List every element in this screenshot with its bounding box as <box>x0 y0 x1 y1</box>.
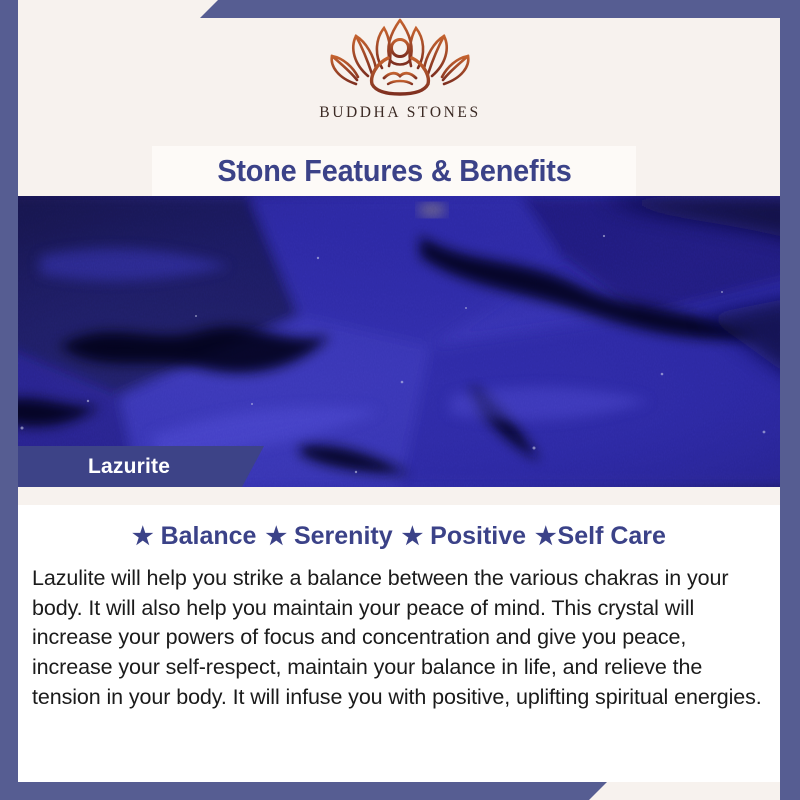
lapis-lazuli-texture <box>0 196 800 487</box>
page-title: Stone Features & Benefits <box>217 153 571 189</box>
stone-info-card: BUDDHA STONES Stone Features & Benefits <box>0 0 800 800</box>
title-banner: Stone Features & Benefits <box>152 146 636 196</box>
benefit-label: Self Care <box>558 522 666 551</box>
benefit-item-balance: ★ Balance <box>132 522 256 551</box>
frame-border-right <box>780 0 800 800</box>
benefits-row: ★ Balance ★ Serenity ★ Positive ★ Self C… <box>18 522 780 551</box>
stone-photo <box>0 196 800 487</box>
stone-description: Lazulite will help you strike a balance … <box>32 564 768 712</box>
frame-border-top <box>200 0 800 18</box>
panel-top-strip <box>18 487 780 505</box>
benefit-item-serenity: ★ Serenity <box>265 522 392 551</box>
benefit-item-self-care: ★ Self Care <box>535 522 666 551</box>
star-icon: ★ <box>265 525 287 549</box>
benefit-item-positive: ★ Positive <box>402 522 526 551</box>
benefit-label: Balance <box>161 522 257 551</box>
star-icon: ★ <box>535 525 557 549</box>
stone-name-tab: Lazurite <box>0 446 264 487</box>
brand-name: BUDDHA STONES <box>319 104 480 122</box>
frame-border-left <box>0 0 18 800</box>
benefit-label: Serenity <box>294 522 393 551</box>
star-icon: ★ <box>402 525 424 549</box>
content-panel: ★ Balance ★ Serenity ★ Positive ★ Self C… <box>18 487 780 782</box>
stone-name-label: Lazurite <box>88 455 170 479</box>
benefit-label: Positive <box>430 522 526 551</box>
brand-logo: BUDDHA STONES <box>310 14 490 122</box>
lotus-meditating-figure-icon <box>310 14 490 100</box>
frame-border-bottom <box>0 782 607 800</box>
star-icon: ★ <box>132 525 154 549</box>
